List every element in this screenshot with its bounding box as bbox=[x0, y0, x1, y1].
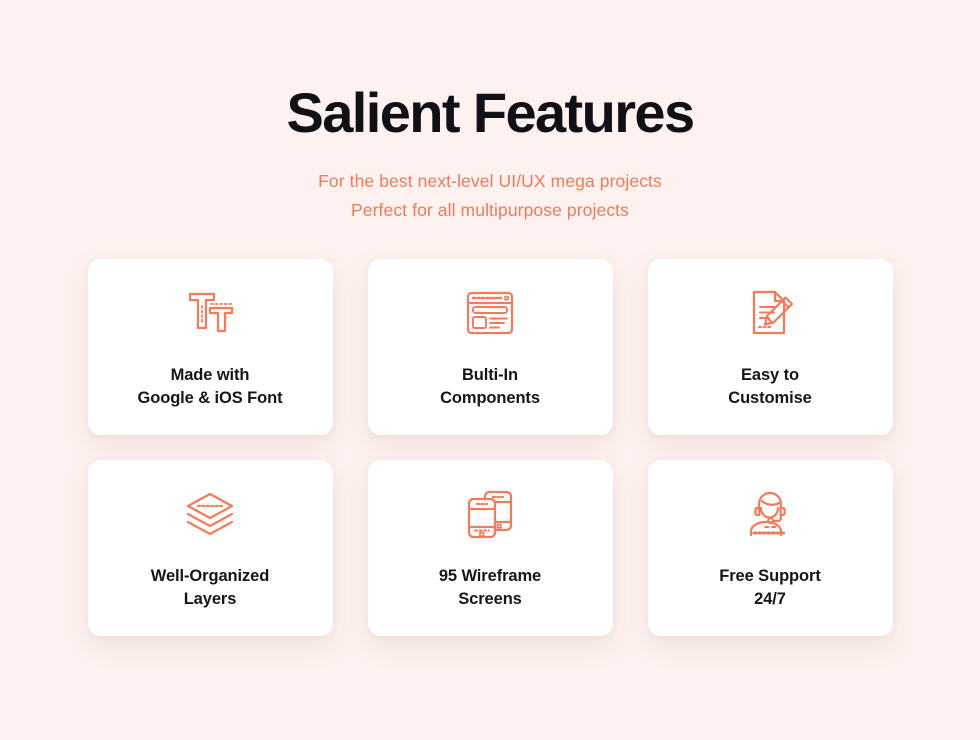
feature-card-bulti-in-components[interactable]: Bulti-In Components bbox=[368, 259, 613, 435]
mobile-screens-icon bbox=[459, 485, 521, 543]
typography-icon bbox=[179, 284, 241, 342]
support-headset-icon bbox=[739, 485, 801, 543]
feature-card-95-wireframe-screens[interactable]: 95 Wireframe Screens bbox=[368, 460, 613, 636]
browser-components-icon bbox=[459, 284, 521, 342]
features-grid: Made with Google & iOS Font Bulti-In Com… bbox=[88, 259, 893, 636]
feature-card-well-organized-layers[interactable]: Well-Organized Layers bbox=[88, 460, 333, 636]
feature-label: Easy to Customise bbox=[728, 364, 811, 410]
feature-label: Free Support 24/7 bbox=[719, 565, 820, 611]
feature-label: Well-Organized Layers bbox=[151, 565, 269, 611]
feature-label: Made with Google & iOS Font bbox=[138, 364, 283, 410]
feature-card-made-with-google-ios-font[interactable]: Made with Google & iOS Font bbox=[88, 259, 333, 435]
subtitle-line-2: Perfect for all multipurpose projects bbox=[318, 196, 662, 225]
feature-label: Bulti-In Components bbox=[440, 364, 540, 410]
feature-label: 95 Wireframe Screens bbox=[439, 565, 541, 611]
page-subtitle: For the best next-level UI/UX mega proje… bbox=[318, 167, 662, 225]
feature-card-easy-to-customise[interactable]: Easy to Customise bbox=[648, 259, 893, 435]
subtitle-line-1: For the best next-level UI/UX mega proje… bbox=[318, 167, 662, 196]
salient-features-page: Salient Features For the best next-level… bbox=[0, 0, 980, 740]
page-title: Salient Features bbox=[286, 84, 693, 143]
document-pencil-icon bbox=[739, 284, 801, 342]
layers-icon bbox=[179, 485, 241, 543]
feature-card-free-support[interactable]: Free Support 24/7 bbox=[648, 460, 893, 636]
